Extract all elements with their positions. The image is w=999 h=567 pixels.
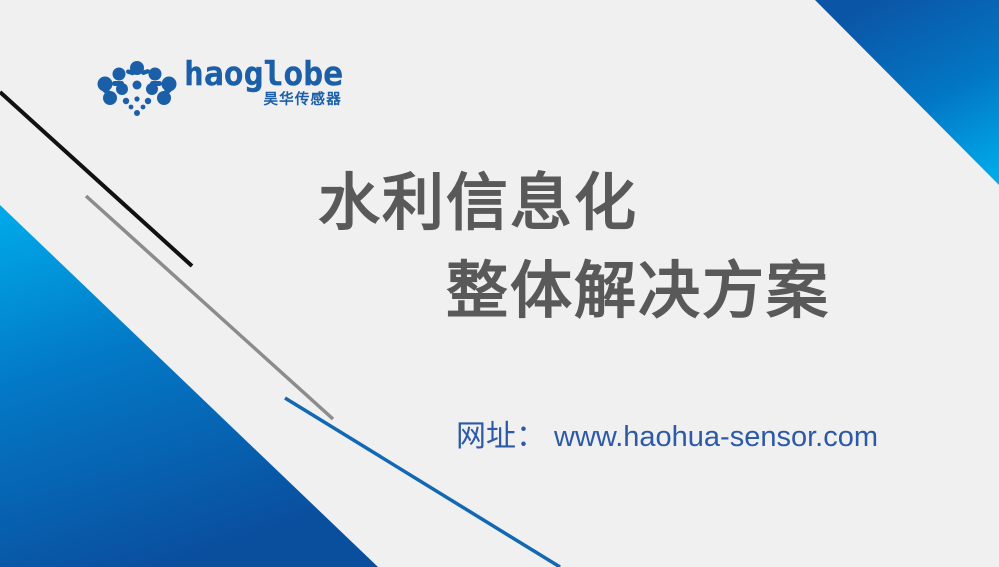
logo-wordmark: haoglobe (184, 57, 343, 91)
logo-subtitle: 昊华传感器 (263, 92, 342, 109)
website-line: 网址： www.haohua-sensor.com (456, 418, 878, 456)
website-label: 网址： (456, 418, 546, 456)
slide-canvas: haoglobe 昊华传感器 水利信息化 整体解决方案 网址： www.haoh… (0, 0, 999, 567)
title-line-2: 整体解决方案 (0, 248, 999, 336)
top-right-triangle (815, 0, 999, 185)
slide-title: 水利信息化 整体解决方案 (0, 160, 999, 336)
website-url[interactable]: www.haohua-sensor.com (554, 418, 878, 456)
logo-text-block: haoglobe 昊华传感器 (184, 57, 343, 109)
title-line-1: 水利信息化 (0, 160, 999, 248)
company-logo: haoglobe 昊华传感器 (96, 57, 326, 123)
network-nodes-logo-mark-icon (96, 61, 178, 119)
